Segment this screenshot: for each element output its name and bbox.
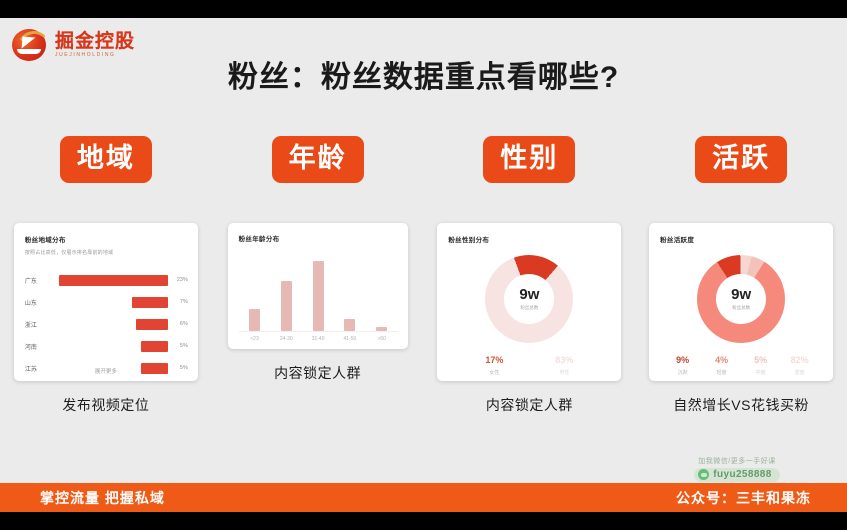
wechat-icon <box>698 469 709 480</box>
gender-total-value: 9w <box>519 287 539 302</box>
category-badge-row: 地域 年龄 性别 活跃 <box>0 136 847 183</box>
activity-donut-wrap: 9w 粉丝总数 <box>649 252 833 346</box>
region-name: 浙江 <box>25 320 59 329</box>
expand-more-link[interactable]: 展开更多 <box>14 367 198 375</box>
card-region-subtitle: 按照占比高低，仅展示排名靠前的地域 <box>25 249 188 256</box>
region-bar-track <box>59 341 168 352</box>
age-column <box>335 251 365 331</box>
legend-label-male: 男性 <box>529 369 599 376</box>
region-bar-list: 广东 23% 山东 7% <box>25 269 188 379</box>
legend-item-female: 17% 女性 <box>459 356 529 376</box>
chart-card-row: 粉丝地域分布 按照占比高低，仅展示排名靠前的地域 广东 23% 山东 <box>0 223 847 415</box>
region-row: 河南 5% <box>25 335 188 357</box>
badge-region[interactable]: 地域 <box>60 136 152 183</box>
region-percent: 7% <box>168 299 188 305</box>
gender-legend: 17% 女性 83% 男性 <box>437 356 621 376</box>
card-age-distribution[interactable]: 粉丝年龄分布 <box>228 223 408 349</box>
region-row: 广东 23% <box>25 269 188 291</box>
logo-sail <box>22 37 36 50</box>
legend-label-light: 轻度 <box>702 369 741 376</box>
watermark-wechat-id: fuyu258888 <box>713 469 771 480</box>
badge-cell-gender: 性别 <box>424 136 636 183</box>
gender-donut-wrap: 9w 粉丝总数 <box>437 252 621 346</box>
badge-age[interactable]: 年龄 <box>272 136 364 183</box>
region-bar <box>59 275 168 286</box>
caption-activity: 自然增长VS花钱买粉 <box>673 395 809 415</box>
gender-donut-chart: 9w 粉丝总数 <box>485 255 573 343</box>
age-bar <box>281 281 292 331</box>
card-cell-age: 粉丝年龄分布 <box>212 223 424 415</box>
activity-total-label: 粉丝总数 <box>732 305 750 311</box>
badge-cell-region: 地域 <box>0 136 212 183</box>
legend-percent-silent: 9% <box>663 356 702 365</box>
slide-header: 掘金控股 JUEJINHOLDING 粉丝：粉丝数据重点看哪些? <box>0 18 847 123</box>
age-column <box>367 251 397 331</box>
card-gender-title: 粉丝性别分布 <box>448 234 611 244</box>
age-tick-label: 31-40 <box>303 336 333 342</box>
legend-item-heavy: 82% 重度 <box>780 356 819 376</box>
legend-label-silent: 沉默 <box>663 369 702 376</box>
region-bar-track <box>59 319 168 330</box>
card-cell-region: 粉丝地域分布 按照占比高低，仅展示排名靠前的地域 广东 23% 山东 <box>0 223 212 415</box>
age-bar-plot <box>239 251 398 332</box>
slide: 掘金控股 JUEJINHOLDING 粉丝：粉丝数据重点看哪些? 地域 年龄 性… <box>0 0 847 530</box>
badge-cell-age: 年龄 <box>212 136 424 183</box>
age-bar <box>376 327 387 331</box>
age-tick-label: 24-30 <box>271 336 301 342</box>
age-tick-label: >50 <box>367 336 397 342</box>
region-percent: 5% <box>168 343 188 349</box>
region-bar <box>141 341 168 352</box>
letterbox-top <box>0 0 847 18</box>
age-tick-label: <23 <box>240 336 270 342</box>
age-column <box>303 251 333 331</box>
region-percent: 23% <box>168 277 188 283</box>
legend-item-male: 83% 男性 <box>529 356 599 376</box>
slide-canvas: 掘金控股 JUEJINHOLDING 粉丝：粉丝数据重点看哪些? 地域 年龄 性… <box>0 18 847 512</box>
legend-item-medium: 5% 中度 <box>741 356 780 376</box>
region-bar <box>132 297 168 308</box>
page-title: 粉丝：粉丝数据重点看哪些? <box>0 52 847 96</box>
card-cell-gender: 粉丝性别分布 9w 粉丝总数 17% 女性 <box>424 223 636 415</box>
card-cell-activity: 粉丝活跃度 9w 粉丝总数 9% 沉默 <box>635 223 847 415</box>
age-bar <box>249 309 260 331</box>
age-axis-ticks: <23 24-30 31-40 41-50 >50 <box>239 336 398 342</box>
footer-slogan: 掌控流量 把握私域 <box>40 488 165 508</box>
card-gender-distribution[interactable]: 粉丝性别分布 9w 粉丝总数 17% 女性 <box>437 223 621 381</box>
letterbox-bottom <box>0 512 847 530</box>
region-name: 山东 <box>25 298 59 307</box>
badge-gender[interactable]: 性别 <box>483 136 575 183</box>
caption-region: 发布视频定位 <box>62 395 149 415</box>
footer-account: 公众号：三丰和果冻 <box>676 488 811 508</box>
legend-item-silent: 9% 沉默 <box>663 356 702 376</box>
card-activity-distribution[interactable]: 粉丝活跃度 9w 粉丝总数 9% 沉默 <box>649 223 833 381</box>
gender-total-label: 粉丝总数 <box>520 305 538 311</box>
slide-footer: 掌控流量 把握私域 公众号：三丰和果冻 <box>0 483 847 512</box>
region-name: 河南 <box>25 342 59 351</box>
activity-donut-center: 9w 粉丝总数 <box>716 274 766 324</box>
age-bar <box>344 319 355 331</box>
caption-gender: 内容锁定人群 <box>486 395 573 415</box>
legend-label-heavy: 重度 <box>780 369 819 376</box>
region-bar <box>136 319 168 330</box>
activity-donut-chart: 9w 粉丝总数 <box>697 255 785 343</box>
activity-total-value: 9w <box>731 287 751 302</box>
legend-label-female: 女性 <box>459 369 529 376</box>
card-region-title: 粉丝地域分布 <box>25 234 188 244</box>
card-age-title: 粉丝年龄分布 <box>239 233 398 243</box>
legend-percent-light: 4% <box>702 356 741 365</box>
legend-item-light: 4% 轻度 <box>702 356 741 376</box>
badge-activity[interactable]: 活跃 <box>695 136 787 183</box>
legend-percent-male: 83% <box>529 356 599 365</box>
caption-age: 内容锁定人群 <box>274 363 361 383</box>
legend-percent-heavy: 82% <box>780 356 819 365</box>
watermark-line-1: 加我微信/更多一手好课 <box>652 456 822 466</box>
legend-percent-medium: 5% <box>741 356 780 365</box>
activity-legend: 9% 沉默 4% 轻度 5% 中度 82% 重度 <box>649 356 833 376</box>
age-bar <box>313 261 324 331</box>
region-percent: 6% <box>168 321 188 327</box>
region-bar-track <box>59 297 168 308</box>
badge-cell-activity: 活跃 <box>635 136 847 183</box>
region-bar-track <box>59 275 168 286</box>
age-tick-label: 41-50 <box>335 336 365 342</box>
region-row: 浙江 6% <box>25 313 188 335</box>
card-region-distribution[interactable]: 粉丝地域分布 按照占比高低，仅展示排名靠前的地域 广东 23% 山东 <box>14 223 198 381</box>
age-column <box>240 251 270 331</box>
gender-donut-center: 9w 粉丝总数 <box>504 274 554 324</box>
age-column <box>271 251 301 331</box>
region-row: 山东 7% <box>25 291 188 313</box>
brand-name-cn: 掘金控股 <box>55 32 135 51</box>
card-activity-title: 粉丝活跃度 <box>660 234 823 244</box>
region-name: 广东 <box>25 276 59 285</box>
legend-label-medium: 中度 <box>741 369 780 376</box>
legend-percent-female: 17% <box>459 356 529 365</box>
watermark-id-pill: fuyu258888 <box>694 468 779 482</box>
